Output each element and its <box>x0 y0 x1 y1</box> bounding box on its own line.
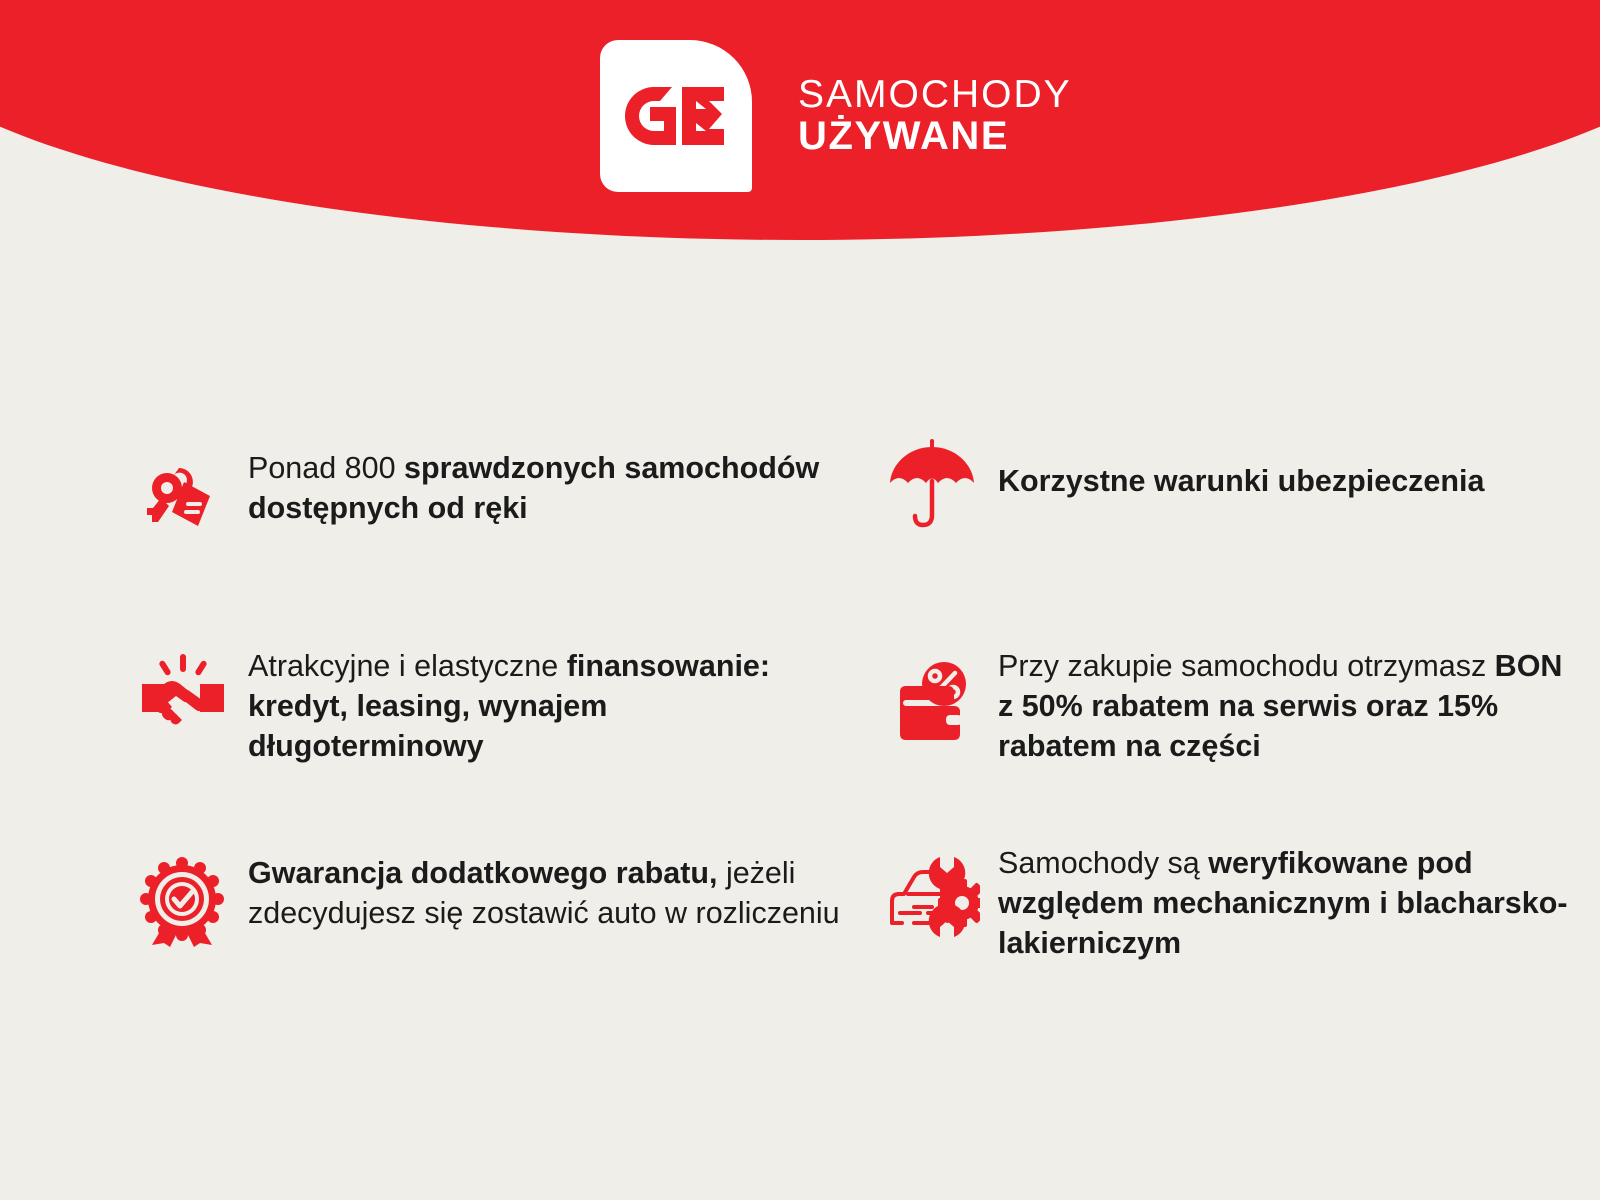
feature-text: Samochody są weryfikowane pod względem m… <box>998 835 1578 964</box>
feature-text-regular: Przy zakupie samochodu otrzymasz <box>998 649 1495 683</box>
feature-text-bold: Gwarancja dodatkowego rabatu, <box>248 856 717 890</box>
feature-text-regular: Atrakcyjne i elastyczne <box>248 649 567 683</box>
features-left-column: Ponad 800 sprawdzonych samochodów dostęp… <box>130 440 850 964</box>
wallet-percent-icon <box>880 648 984 752</box>
award-badge-icon <box>130 849 234 953</box>
feature-item: Samochody są weryfikowane pod względem m… <box>880 835 1580 964</box>
feature-item: Gwarancja dodatkowego rabatu, jeżeli zde… <box>130 845 850 953</box>
handshake-icon <box>130 640 234 744</box>
feature-item: Korzystne warunki ubezpieczenia <box>880 440 1580 536</box>
car-keys-icon <box>130 446 234 550</box>
feature-text: Przy zakupie samochodu otrzymasz BON z 5… <box>998 638 1578 767</box>
umbrella-icon <box>880 432 984 536</box>
gb-logo-mark <box>600 40 752 192</box>
brand-logo[interactable]: SAMOCHODY UŻYWANE <box>600 36 1072 196</box>
wordmark-line-1: SAMOCHODY <box>798 75 1072 115</box>
feature-text: Atrakcyjne i elastyczne finansowanie: kr… <box>248 638 848 767</box>
feature-item: Ponad 800 sprawdzonych samochodów dostęp… <box>130 440 850 550</box>
feature-text: Gwarancja dodatkowego rabatu, jeżeli zde… <box>248 845 848 934</box>
feature-text: Ponad 800 sprawdzonych samochodów dostęp… <box>248 440 848 529</box>
feature-text-regular: Samochody są <box>998 846 1208 880</box>
car-wrench-gear-icon <box>880 839 984 943</box>
feature-text-regular: Ponad 800 <box>248 451 404 485</box>
features-grid: Ponad 800 sprawdzonych samochodów dostęp… <box>0 440 1600 964</box>
brand-wordmark: SAMOCHODY UŻYWANE <box>798 75 1072 158</box>
feature-item: Atrakcyjne i elastyczne finansowanie: kr… <box>130 638 850 767</box>
feature-text: Korzystne warunki ubezpieczenia <box>998 440 1484 502</box>
feature-text-bold: Korzystne warunki ubezpieczenia <box>998 464 1484 498</box>
features-right-column: Korzystne warunki ubezpieczenia <box>880 440 1580 964</box>
wordmark-line-2: UŻYWANE <box>798 116 1072 157</box>
feature-item: Przy zakupie samochodu otrzymasz BON z 5… <box>880 638 1580 767</box>
